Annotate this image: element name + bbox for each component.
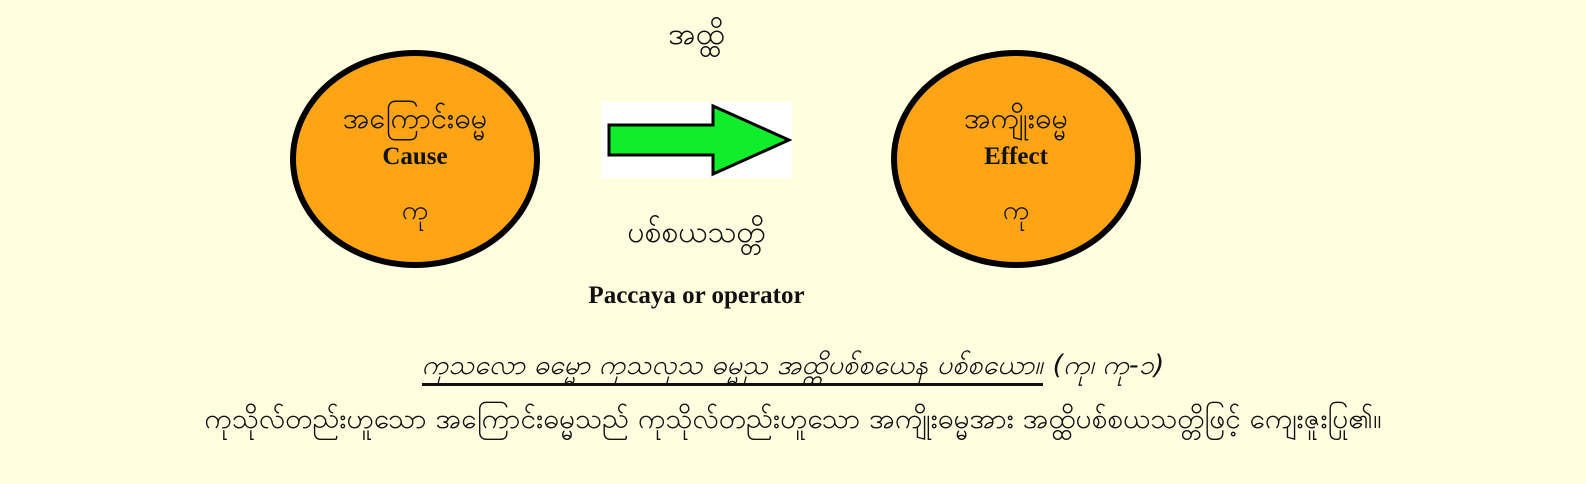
arrow-bottom-english-label: Paccaya or operator <box>531 282 862 310</box>
right-arrow-icon <box>601 102 792 178</box>
effect-sub-label: ကု <box>1003 193 1029 233</box>
pali-quotation-line: ကုသလော ဓမ္မော ကုသလှသ ဓမ္မှသ အထ္ထိပစ်စယေန… <box>0 348 1586 388</box>
effect-burmese-label: အကျိုးဓမ္မ <box>964 104 1068 133</box>
cause-english-label: Cause <box>382 143 447 171</box>
effect-node: အကျိုးဓမ္မ Effect ကု <box>891 50 1141 268</box>
pali-quotation-text: ကုသလော ဓမ္မော ကုသလှသ ဓမ္မှသ အထ္ထိပစ်စယေန… <box>422 350 1043 386</box>
burmese-gloss-line: ကုသိုလ်တည်းဟူသော အကြောင်းဓမ္မသည် ကုသိုလ်… <box>0 400 1586 442</box>
pali-reference: (ကု၊ ကု-၁) <box>1043 350 1165 381</box>
arrow-top-label: အထ္ထိ <box>601 14 792 59</box>
cause-burmese-label: အကြောင်းဓမ္မ <box>343 104 487 133</box>
effect-english-label: Effect <box>984 143 1048 171</box>
diagram-canvas: အကြောင်းဓမ္မ Cause ကု အကျိုးဓမ္မ Effect … <box>0 0 1586 484</box>
cause-sub-label: ကု <box>402 193 428 233</box>
cause-node: အကြောင်းဓမ္မ Cause ကု <box>290 50 540 268</box>
arrow-bottom-burmese-label: ပစ်စယသတ္တိ <box>561 212 832 257</box>
